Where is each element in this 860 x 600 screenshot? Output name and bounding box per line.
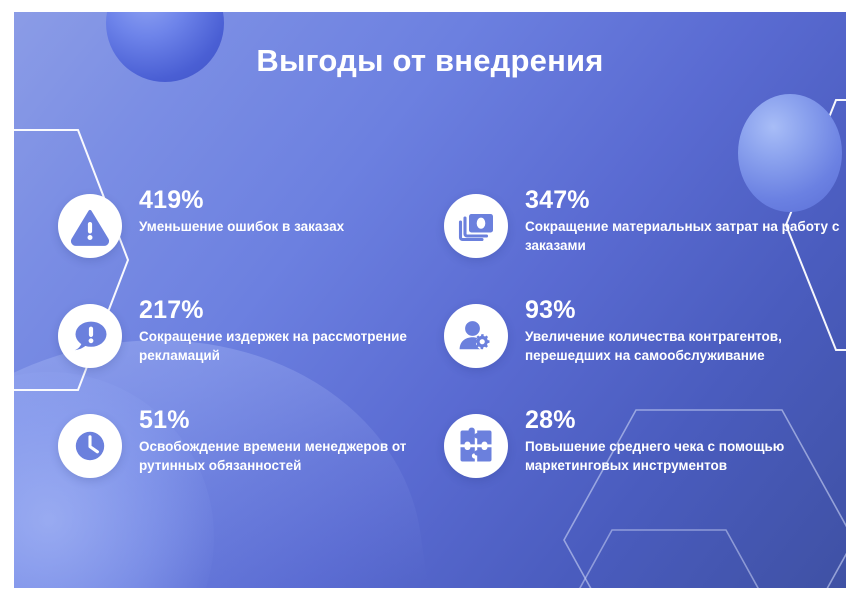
stat-text-347: 347% Сокращение материальных затрат на р… <box>525 180 844 255</box>
stat-text-217: 217% Сокращение издержек на рассмотрение… <box>139 290 430 365</box>
puzzle-pieces-icon <box>456 426 496 466</box>
user-gear-icon-badge <box>444 304 508 368</box>
stat-label: Сокращение материальных затрат на работу… <box>525 217 844 255</box>
stat-item-93: 93% Увеличение количества контрагентов, … <box>444 290 844 400</box>
stat-item-51: 51% Освобождение времени менеджеров от р… <box>58 400 430 510</box>
user-gear-icon <box>456 316 496 356</box>
stats-grid: 419% Уменьшение ошибок в заказах 217% Со… <box>14 180 846 510</box>
stats-column-left: 419% Уменьшение ошибок в заказах 217% Со… <box>58 180 430 510</box>
hexagon-outline-bottom-right-lower <box>554 530 784 588</box>
speech-bubble-alert-icon <box>70 316 110 356</box>
stat-value: 51% <box>139 406 430 434</box>
stat-label: Сокращение издержек на рассмотрение рекл… <box>139 327 430 365</box>
stat-item-217: 217% Сокращение издержек на рассмотрение… <box>58 290 430 400</box>
stat-value: 93% <box>525 296 844 324</box>
puzzle-pieces-icon-badge <box>444 414 508 478</box>
stat-label: Увеличение количества контрагентов, пере… <box>525 327 844 365</box>
stat-label: Освобождение времени менеджеров от рутин… <box>139 437 430 475</box>
stat-item-347: 347% Сокращение материальных затрат на р… <box>444 180 844 290</box>
slide-title: Выгоды от внедрения <box>14 42 846 79</box>
banknotes-icon <box>456 206 496 246</box>
stat-label: Повышение среднего чека с помощью маркет… <box>525 437 844 475</box>
stat-value: 28% <box>525 406 844 434</box>
stat-label: Уменьшение ошибок в заказах <box>139 217 344 236</box>
stat-text-93: 93% Увеличение количества контрагентов, … <box>525 290 844 365</box>
slide-canvas: Выгоды от внедрения 419% Уменьшение ошиб… <box>14 12 846 588</box>
stat-item-419: 419% Уменьшение ошибок в заказах <box>58 180 430 290</box>
warning-triangle-icon <box>70 206 110 246</box>
warning-triangle-icon-badge <box>58 194 122 258</box>
banknotes-icon-badge <box>444 194 508 258</box>
speech-bubble-alert-icon-badge <box>58 304 122 368</box>
stat-value: 419% <box>139 186 344 214</box>
stat-item-28: 28% Повышение среднего чека с помощью ма… <box>444 400 844 510</box>
stat-value: 347% <box>525 186 844 214</box>
stat-text-419: 419% Уменьшение ошибок в заказах <box>139 180 344 236</box>
stats-column-right: 347% Сокращение материальных затрат на р… <box>444 180 844 510</box>
clock-icon-badge <box>58 414 122 478</box>
stat-value: 217% <box>139 296 430 324</box>
stat-text-28: 28% Повышение среднего чека с помощью ма… <box>525 400 844 475</box>
stat-text-51: 51% Освобождение времени менеджеров от р… <box>139 400 430 475</box>
clock-icon <box>70 426 110 466</box>
